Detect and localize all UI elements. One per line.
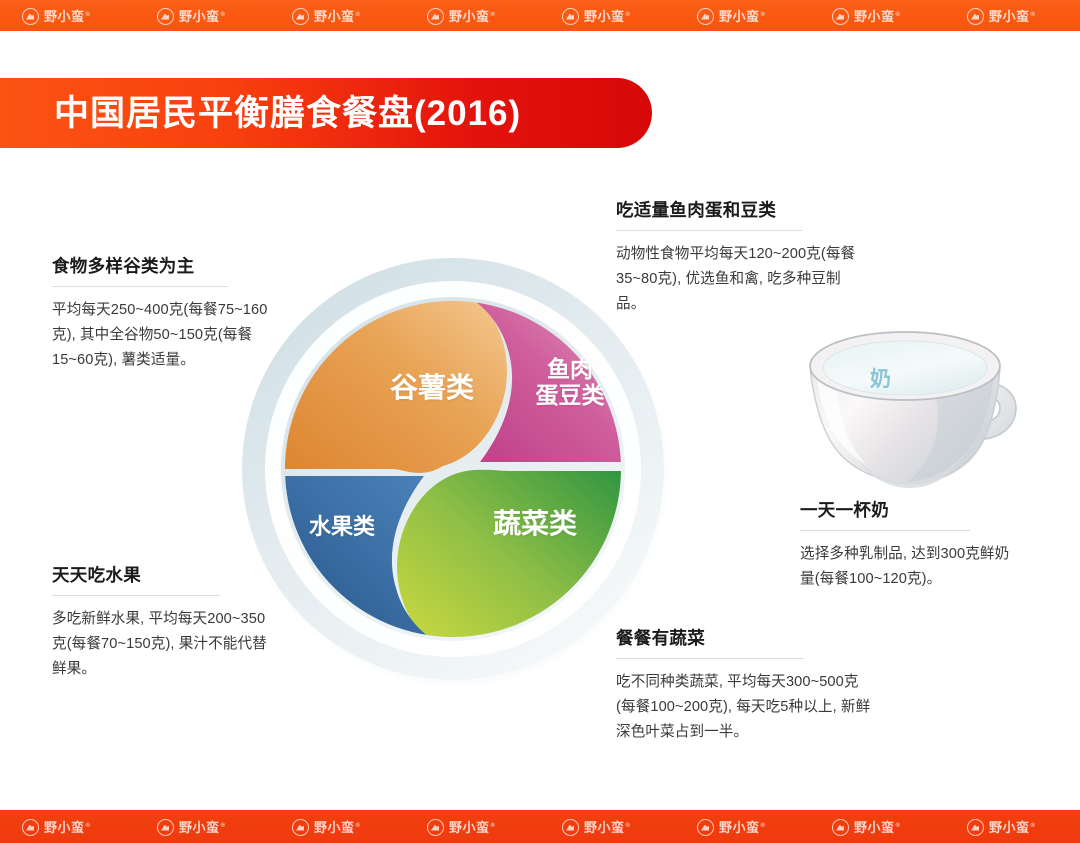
watermark-text: 野小蛮®	[314, 10, 360, 23]
registered-mark: ®	[1031, 12, 1036, 18]
brand-logo-icon	[697, 8, 714, 25]
brand-logo-icon	[967, 819, 984, 836]
watermark-text: 野小蛮®	[854, 821, 900, 834]
brand-logo-icon	[967, 8, 984, 25]
watermark-item: 野小蛮®	[562, 819, 630, 836]
registered-mark: ®	[86, 12, 91, 18]
plate-svg	[232, 250, 674, 690]
registered-mark: ®	[221, 823, 226, 829]
watermark-item: 野小蛮®	[157, 819, 225, 836]
watermark-text: 野小蛮®	[854, 10, 900, 23]
brand-logo-icon	[292, 819, 309, 836]
divider-protein	[616, 230, 802, 231]
milk-cup-illustration: 奶	[792, 322, 1032, 494]
brand-logo-icon	[832, 8, 849, 25]
info-block-milk: 一天一杯奶 选择多种乳制品, 达到300克鲜奶量(每餐100~120克)。	[800, 500, 1022, 592]
brand-logo-icon	[562, 8, 579, 25]
registered-mark: ®	[761, 12, 766, 18]
watermark-text: 野小蛮®	[584, 10, 630, 23]
brand-logo-icon	[22, 819, 39, 836]
watermark-item: 野小蛮®	[427, 8, 495, 25]
watermark-item: 野小蛮®	[562, 8, 630, 25]
registered-mark: ®	[86, 823, 91, 829]
registered-mark: ®	[491, 12, 496, 18]
divider-fruit	[52, 595, 220, 596]
brand-logo-icon	[427, 819, 444, 836]
balanced-diet-plate-diagram: 谷薯类 鱼肉 蛋豆类 蔬菜类 水果类	[232, 250, 674, 690]
title-banner: 中国居民平衡膳食餐盘(2016)	[0, 78, 652, 148]
brand-logo-icon	[157, 8, 174, 25]
top-watermark-bar: 野小蛮®野小蛮®野小蛮®野小蛮®野小蛮®野小蛮®野小蛮®野小蛮®	[0, 0, 1080, 31]
watermark-text: 野小蛮®	[44, 10, 90, 23]
watermark-item: 野小蛮®	[292, 819, 360, 836]
watermark-text: 野小蛮®	[44, 821, 90, 834]
infographic-page: 野小蛮®野小蛮®野小蛮®野小蛮®野小蛮®野小蛮®野小蛮®野小蛮® 中国居民平衡膳…	[0, 0, 1080, 843]
watermark-item: 野小蛮®	[832, 819, 900, 836]
registered-mark: ®	[896, 823, 901, 829]
brand-logo-icon	[832, 819, 849, 836]
watermark-item: 野小蛮®	[22, 819, 90, 836]
watermark-text: 野小蛮®	[719, 10, 765, 23]
brand-logo-icon	[427, 8, 444, 25]
watermark-item: 野小蛮®	[967, 8, 1035, 25]
watermark-item: 野小蛮®	[157, 8, 225, 25]
brand-logo-icon	[22, 8, 39, 25]
watermark-item: 野小蛮®	[832, 8, 900, 25]
brand-logo-icon	[292, 8, 309, 25]
watermark-text: 野小蛮®	[989, 10, 1035, 23]
bottom-watermark-bar: 野小蛮®野小蛮®野小蛮®野小蛮®野小蛮®野小蛮®野小蛮®野小蛮®	[0, 810, 1080, 843]
registered-mark: ®	[626, 823, 631, 829]
registered-mark: ®	[491, 823, 496, 829]
watermark-item: 野小蛮®	[22, 8, 90, 25]
page-title: 中国居民平衡膳食餐盘(2016)	[54, 96, 521, 131]
registered-mark: ®	[626, 12, 631, 18]
registered-mark: ®	[356, 12, 361, 18]
watermark-text: 野小蛮®	[719, 821, 765, 834]
watermark-text: 野小蛮®	[449, 10, 495, 23]
registered-mark: ®	[896, 12, 901, 18]
watermark-item: 野小蛮®	[697, 8, 765, 25]
watermark-item: 野小蛮®	[697, 819, 765, 836]
watermark-text: 野小蛮®	[179, 10, 225, 23]
divider-milk	[800, 530, 970, 531]
brand-logo-icon	[562, 819, 579, 836]
watermark-item: 野小蛮®	[967, 819, 1035, 836]
brand-logo-icon	[157, 819, 174, 836]
watermark-text: 野小蛮®	[989, 821, 1035, 834]
watermark-text: 野小蛮®	[584, 821, 630, 834]
cup-svg	[792, 322, 1032, 494]
registered-mark: ®	[1031, 823, 1036, 829]
info-title-protein: 吃适量鱼肉蛋和豆类	[616, 200, 864, 221]
registered-mark: ®	[356, 823, 361, 829]
watermark-text: 野小蛮®	[179, 821, 225, 834]
watermark-item: 野小蛮®	[292, 8, 360, 25]
brand-logo-icon	[697, 819, 714, 836]
watermark-text: 野小蛮®	[314, 821, 360, 834]
info-body-milk: 选择多种乳制品, 达到300克鲜奶量(每餐100~120克)。	[800, 542, 1022, 592]
info-title-milk: 一天一杯奶	[800, 500, 1022, 521]
registered-mark: ®	[221, 12, 226, 18]
divider-grains	[52, 286, 228, 287]
registered-mark: ®	[761, 823, 766, 829]
watermark-item: 野小蛮®	[427, 819, 495, 836]
watermark-text: 野小蛮®	[449, 821, 495, 834]
cup-milk-surface	[823, 341, 987, 395]
cup-inner-label: 奶	[870, 363, 892, 393]
